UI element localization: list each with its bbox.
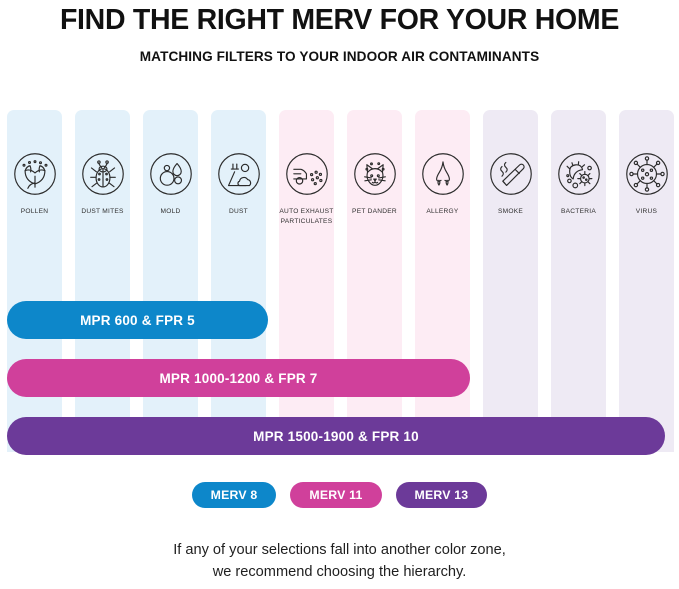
dust-broom-icon — [217, 152, 261, 196]
merv-badge-11-label: MERV 11 — [309, 488, 362, 502]
contaminant-column: MOLD — [143, 110, 198, 452]
contaminant-label: DUST MITES — [71, 207, 134, 217]
mpr-bar-blue-label: MPR 600 & FPR 5 — [80, 313, 195, 328]
mpr-bar-pink-label: MPR 1000-1200 & FPR 7 — [159, 371, 317, 386]
virus-icon — [625, 152, 669, 196]
contaminant-column: SMOKE — [483, 110, 538, 452]
merv-badge-13: MERV 13 — [396, 482, 488, 508]
merv-badge-row: MERV 8 MERV 11 MERV 13 — [0, 482, 679, 508]
merv-badge-8-label: MERV 8 — [211, 488, 258, 502]
pollen-flower-icon — [13, 152, 57, 196]
footer-line-1: If any of your selections fall into anot… — [0, 539, 679, 561]
contaminant-label: MOLD — [139, 207, 202, 217]
contaminant-label: BACTERIA — [547, 207, 610, 217]
contaminant-label: PET DANDER — [343, 207, 406, 217]
contaminant-column: AUTO EXHAUSTPARTICULATES — [279, 110, 334, 452]
bacteria-icon — [557, 152, 601, 196]
dust-mite-bug-icon — [81, 152, 125, 196]
merv-badge-8: MERV 8 — [192, 482, 277, 508]
contaminant-column: BACTERIA — [551, 110, 606, 452]
mpr-bar-blue: MPR 600 & FPR 5 — [7, 301, 268, 339]
merv-badge-13-label: MERV 13 — [415, 488, 469, 502]
infographic-root: FIND THE RIGHT MERV FOR YOUR HOME MATCHI… — [0, 0, 679, 589]
merv-badge-11: MERV 11 — [290, 482, 381, 508]
mpr-bar-purple: MPR 1500-1900 & FPR 10 — [7, 417, 665, 455]
page-subtitle: MATCHING FILTERS TO YOUR INDOOR AIR CONT… — [0, 49, 679, 64]
contaminant-column: DUST — [211, 110, 266, 452]
contaminant-columns: POLLENDUST MITESMOLDDUSTAUTO EXHAUSTPART… — [7, 110, 672, 452]
allergy-nose-icon — [421, 152, 465, 196]
footer-line-2: we recommend choosing the hierarchy. — [0, 561, 679, 583]
pet-dander-cat-icon — [353, 152, 397, 196]
page-title: FIND THE RIGHT MERV FOR YOUR HOME — [0, 4, 679, 37]
mold-spores-icon — [149, 152, 193, 196]
contaminant-label: DUST — [207, 207, 270, 217]
contaminant-column: PET DANDER — [347, 110, 402, 452]
mpr-bar-pink: MPR 1000-1200 & FPR 7 — [7, 359, 470, 397]
contaminant-label: SMOKE — [479, 207, 542, 217]
auto-exhaust-car-icon — [285, 152, 329, 196]
contaminant-label: AUTO EXHAUSTPARTICULATES — [275, 207, 338, 226]
smoke-cigarette-icon — [489, 152, 533, 196]
contaminant-label: ALLERGY — [411, 207, 474, 217]
contaminant-column: VIRUS — [619, 110, 674, 452]
contaminant-column: ALLERGY — [415, 110, 470, 452]
contaminant-label: VIRUS — [615, 207, 678, 217]
footer-note: If any of your selections fall into anot… — [0, 539, 679, 583]
contaminant-column: DUST MITES — [75, 110, 130, 452]
contaminant-label: POLLEN — [3, 207, 66, 217]
contaminant-column: POLLEN — [7, 110, 62, 452]
mpr-bar-purple-label: MPR 1500-1900 & FPR 10 — [253, 429, 419, 444]
